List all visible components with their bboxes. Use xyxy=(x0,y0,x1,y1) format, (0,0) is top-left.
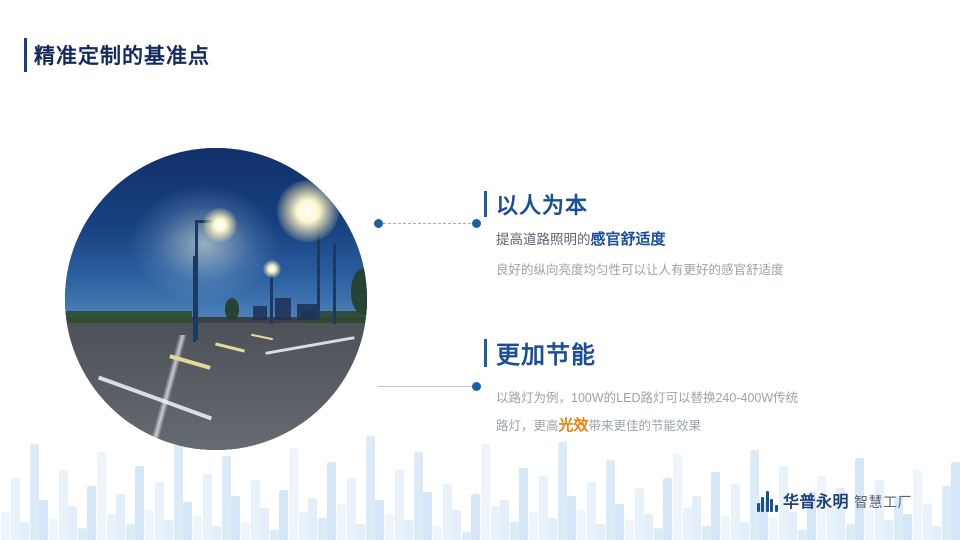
block-2-desc-line2-prefix: 路灯，更高 xyxy=(496,419,559,433)
decorative-bar xyxy=(491,506,500,540)
title-text: 精准定制的基准点 xyxy=(34,40,210,70)
decorative-bar xyxy=(251,480,260,540)
decorative-bar xyxy=(39,500,48,540)
decorative-bar xyxy=(20,522,29,540)
photo-tree xyxy=(225,298,239,320)
photo-lamp-glow xyxy=(263,260,281,278)
decorative-bar xyxy=(577,510,586,540)
decorative-bar xyxy=(923,504,932,540)
decorative-bar xyxy=(347,478,356,540)
decorative-bar xyxy=(49,518,58,540)
decorative-bar xyxy=(78,528,87,540)
decorative-bar xyxy=(337,504,346,540)
decorative-bar xyxy=(692,496,701,540)
decorative-bar xyxy=(174,440,183,540)
decorative-bar xyxy=(932,526,941,540)
decorative-bar xyxy=(270,530,279,540)
block-2-desc-line1: 以路灯为例，100W的LED路灯可以替换240-400W传统 xyxy=(496,391,798,405)
photo-lamp-glow xyxy=(203,208,237,242)
decorative-bar xyxy=(308,498,317,540)
decorative-bar xyxy=(798,530,807,540)
connector-dashed-line-1 xyxy=(378,223,476,224)
decorative-bar xyxy=(443,484,452,540)
decorative-bar xyxy=(587,482,596,540)
feature-block-energy-saving: 更加节能 以路灯为例，100W的LED路灯可以替换240-400W传统 路灯，更… xyxy=(496,335,798,440)
decorative-bar xyxy=(375,500,384,540)
company-logo: 华普永明 智慧工厂 xyxy=(757,488,912,512)
decorative-bar xyxy=(87,486,96,540)
decorative-bar xyxy=(318,518,327,540)
block-heading-rule xyxy=(484,191,487,217)
decorative-bar xyxy=(241,522,250,540)
decorative-bar xyxy=(116,494,125,540)
block-1-sub-prefix: 提高道路照明的 xyxy=(496,232,591,247)
decorative-bar xyxy=(884,520,893,540)
block-1-heading: 以人为本 xyxy=(496,188,784,220)
decorative-bar xyxy=(740,522,749,540)
decorative-bar xyxy=(846,524,855,540)
feature-block-human-centric: 以人为本 提高道路照明的感官舒适度 良好的纵向亮度均匀性可以让人有更好的感官舒适… xyxy=(496,188,784,281)
block-2-desc-highlight: 光效 xyxy=(559,417,589,434)
page-title: 精准定制的基准点 xyxy=(0,38,960,72)
decorative-bar xyxy=(615,504,624,540)
decorative-bar xyxy=(356,524,365,540)
connector-line-2 xyxy=(378,386,476,387)
photo-street-pole xyxy=(333,244,336,324)
decorative-bar xyxy=(155,482,164,540)
decorative-bar xyxy=(865,510,874,540)
block-2-heading: 更加节能 xyxy=(496,335,798,370)
decorative-bar xyxy=(481,444,490,540)
decorative-bar xyxy=(414,452,423,540)
decorative-bar xyxy=(606,460,615,540)
decorative-bar xyxy=(203,474,212,540)
logo-mark-icon xyxy=(757,490,778,512)
decorative-bar xyxy=(59,470,68,540)
decorative-bar xyxy=(702,526,711,540)
photo-lamp-glow-main xyxy=(277,180,339,242)
photo-building xyxy=(275,298,291,320)
decorative-bar xyxy=(731,484,740,540)
block-1-description: 良好的纵向亮度均匀性可以让人有更好的感官舒适度 xyxy=(496,259,784,281)
decorative-bar xyxy=(548,518,557,540)
decorative-bar xyxy=(558,442,567,540)
decorative-bar xyxy=(135,466,144,540)
decorative-bar xyxy=(289,448,298,540)
decorative-bar xyxy=(68,506,77,540)
decorative-bar xyxy=(212,526,221,540)
title-underline xyxy=(24,72,256,74)
decorative-bar xyxy=(539,476,548,540)
block-1-subtitle: 提高道路照明的感官舒适度 xyxy=(496,228,784,249)
block-2-description: 以路灯为例，100W的LED路灯可以替换240-400W传统 路灯，更高光效带来… xyxy=(496,384,798,440)
title-accent-bar xyxy=(24,38,27,72)
night-street-lighting-photo xyxy=(65,148,367,450)
decorative-bar xyxy=(164,520,173,540)
decorative-bar xyxy=(452,510,461,540)
decorative-bar xyxy=(395,470,404,540)
decorative-bar xyxy=(635,488,644,540)
decorative-bar xyxy=(193,516,202,540)
decorative-bar xyxy=(107,514,116,540)
decorative-bar xyxy=(462,532,471,540)
decorative-bar xyxy=(596,524,605,540)
decorative-bar xyxy=(711,472,720,540)
decorative-bar xyxy=(126,524,135,540)
photo-street-pole xyxy=(193,256,196,342)
decorative-bar xyxy=(30,444,39,540)
decorative-bar xyxy=(500,500,509,540)
decorative-bar xyxy=(183,502,192,540)
decorative-bar xyxy=(942,486,951,540)
decorative-bar xyxy=(673,454,682,540)
decorative-bar xyxy=(471,494,480,540)
decorative-bar xyxy=(385,514,394,540)
decorative-bar xyxy=(510,522,519,540)
logo-company-name: 华普永明 xyxy=(783,488,849,512)
block-1-sub-highlight: 感官舒适度 xyxy=(591,231,666,248)
decorative-bar xyxy=(913,470,922,540)
decorative-bar xyxy=(903,514,912,540)
decorative-bar xyxy=(279,490,288,540)
decorative-bar xyxy=(683,508,692,540)
connector-node-right-1 xyxy=(472,219,481,228)
photo-building xyxy=(253,306,267,320)
decorative-bar xyxy=(567,496,576,540)
decorative-bar xyxy=(1,512,10,540)
logo-company-sub: 智慧工厂 xyxy=(854,492,912,512)
decorative-bar xyxy=(366,436,375,540)
decorative-bar xyxy=(625,520,634,540)
decorative-bar xyxy=(97,452,106,540)
decorative-bar xyxy=(327,462,336,540)
decorative-bar xyxy=(231,496,240,540)
decorative-bar xyxy=(721,516,730,540)
photo-building xyxy=(297,304,319,320)
block-2-desc-line2-suffix: 带来更佳的节能效果 xyxy=(589,419,702,433)
photo-sky-glow xyxy=(129,184,279,304)
decorative-bar xyxy=(145,510,154,540)
decorative-bar xyxy=(519,468,528,540)
decorative-bar xyxy=(654,528,663,540)
connector-node-right-2 xyxy=(472,382,481,391)
decorative-bar xyxy=(951,462,960,540)
decorative-bar xyxy=(663,478,672,540)
decorative-bar xyxy=(260,508,269,540)
decorative-bar xyxy=(529,512,538,540)
decorative-bar xyxy=(644,514,653,540)
decorative-bar xyxy=(11,478,20,540)
decorative-bar xyxy=(222,456,231,540)
decorative-bar xyxy=(788,512,797,540)
block-heading-rule xyxy=(484,339,487,367)
photo-road-shine xyxy=(77,335,258,450)
decorative-bar xyxy=(423,492,432,540)
connector-node-left-1 xyxy=(374,219,383,228)
decorative-bar xyxy=(299,512,308,540)
decorative-bar xyxy=(769,518,778,540)
decorative-bar xyxy=(404,520,413,540)
decorative-bar xyxy=(433,526,442,540)
